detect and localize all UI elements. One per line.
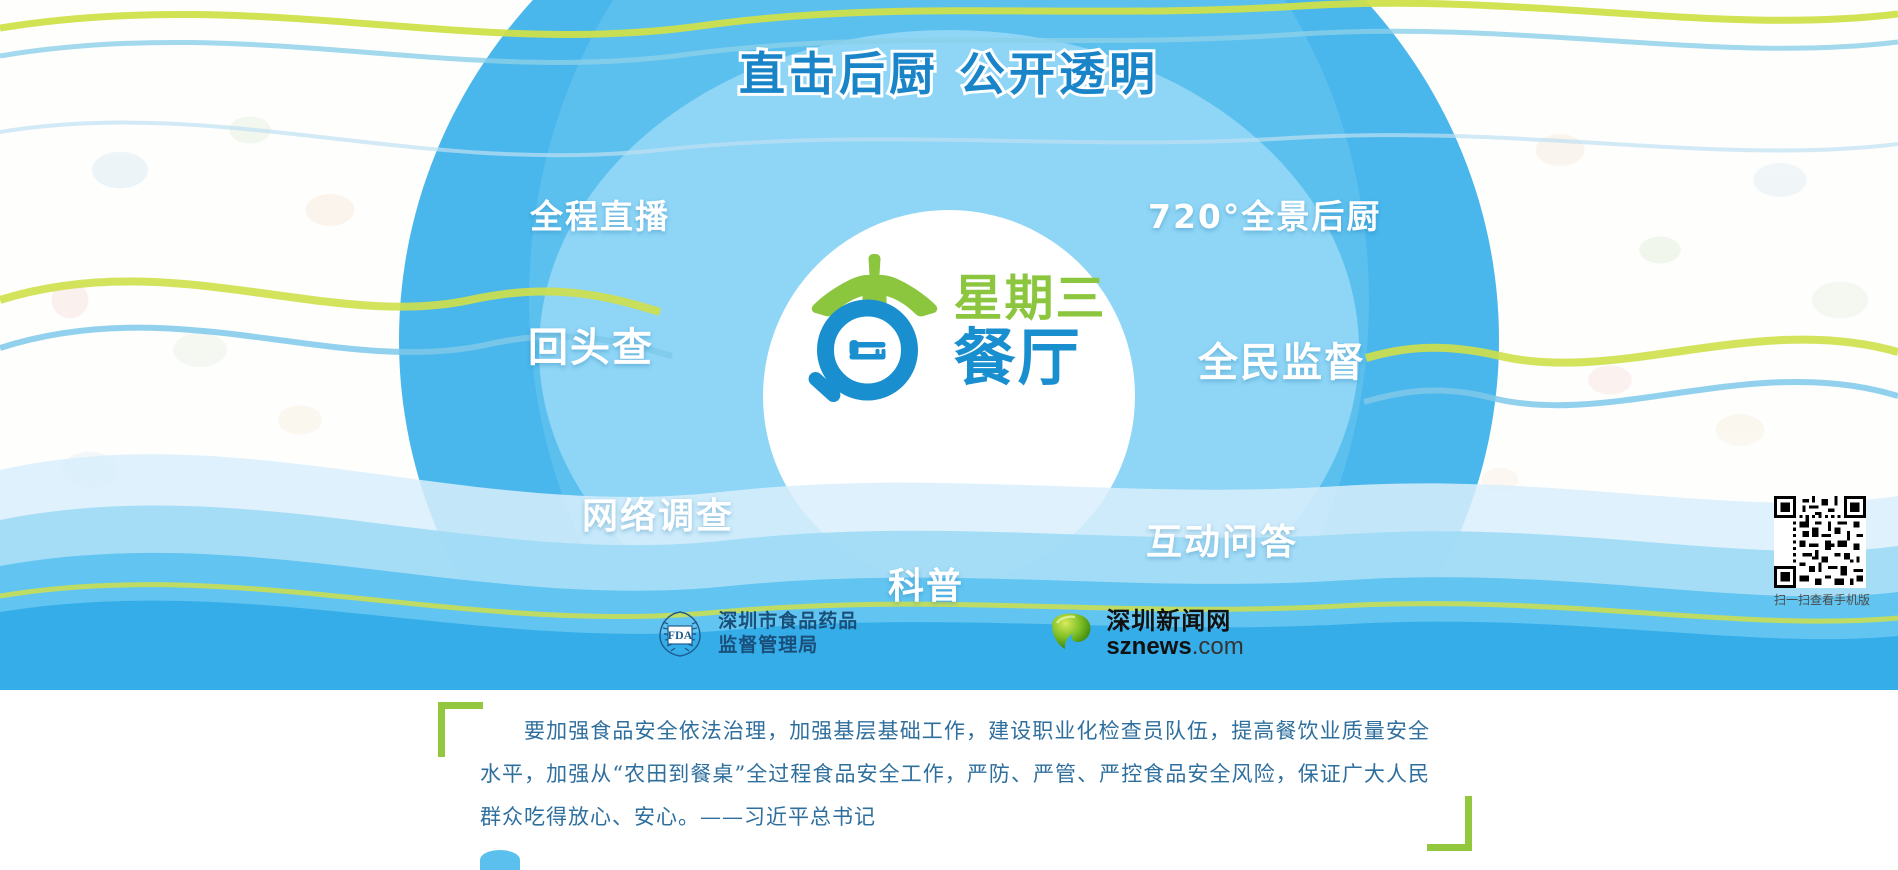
- feature-label-review: 回头查: [528, 315, 654, 373]
- logo-text-line2: 餐厅: [953, 327, 1106, 389]
- page-title: 直击后厨 公开透明: [0, 38, 1898, 104]
- qr-caption: 扫一扫查看手机版: [1774, 591, 1870, 608]
- qr-code-icon[interactable]: [1774, 496, 1866, 588]
- sznews-name-cn: 深圳新闻网: [1106, 609, 1243, 634]
- sznews-leaf-icon: [1048, 611, 1094, 657]
- fda-emblem-icon: FDA: [654, 608, 706, 660]
- sznews-name-en: sznews: [1106, 633, 1191, 660]
- feature-label-survey: 网络调查: [582, 487, 734, 539]
- hero-banner: 直击后厨 公开透明 全程直播 720°全景后厨 回头查 全民监督 网络调查 互动…: [0, 0, 1898, 690]
- feature-label-720: 720°全景后厨: [1148, 190, 1381, 238]
- bracket-top-left: [438, 702, 483, 757]
- quote-container: 要加强食品安全依法治理，加强基层基础工作，建设职业化检查员队伍，提高餐饮业质量安…: [480, 710, 1430, 839]
- bottom-decoration: [480, 850, 520, 870]
- qr-block[interactable]: 扫一扫查看手机版: [1774, 496, 1870, 608]
- sznews-domain: .com: [1192, 633, 1244, 660]
- fda-name-line1: 深圳市食品药品: [718, 610, 858, 634]
- feature-label-science: 科普: [888, 557, 964, 609]
- quote-text: 要加强食品安全依法治理，加强基层基础工作，建设职业化检查员队伍，提高餐饮业质量安…: [480, 710, 1430, 839]
- quote-section: 要加强食品安全依法治理，加强基层基础工作，建设职业化检查员队伍，提高餐饮业质量安…: [0, 690, 1898, 866]
- feature-label-supervise: 全民监督: [1198, 330, 1366, 388]
- magnifier-plate-logo-icon: [791, 248, 943, 414]
- sponsor-fda: FDA 深圳市食品药品 监督管理局: [654, 608, 858, 660]
- feature-label-live: 全程直播: [530, 190, 670, 238]
- brand-logo: 星期三 餐厅: [791, 248, 1106, 414]
- sponsor-sznews: 深圳新闻网 sznews.com: [1048, 609, 1243, 659]
- fda-name-line2: 监督管理局: [718, 634, 858, 658]
- feature-label-qa: 互动问答: [1146, 513, 1298, 565]
- sponsor-row: FDA 深圳市食品药品 监督管理局 深圳新闻网: [0, 608, 1898, 660]
- svg-text:FDA: FDA: [668, 628, 693, 642]
- logo-text-line1: 星期三: [953, 274, 1106, 323]
- bracket-bottom-right: [1427, 796, 1472, 851]
